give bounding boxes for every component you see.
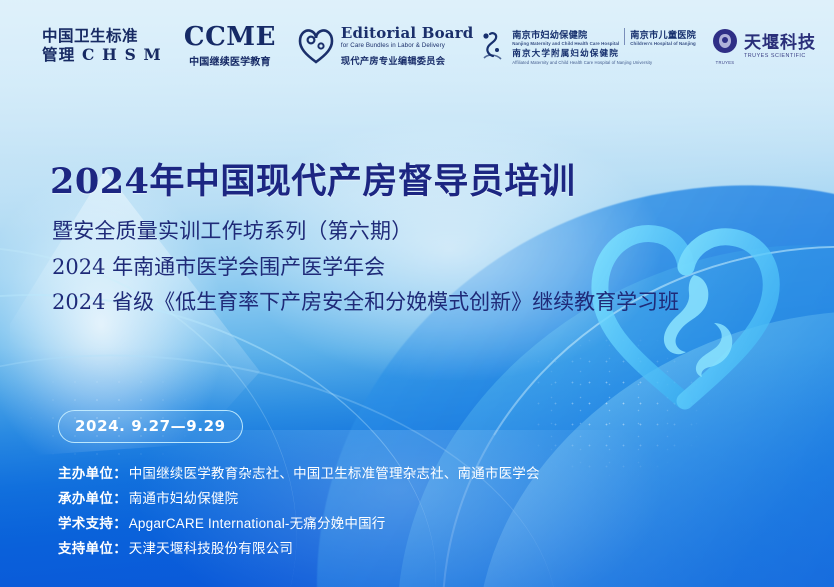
poster-content: 2024年中国现代产房督导员培训 暨安全质量实训工作坊系列（第六期） 2024 … [50,0,790,587]
poster-title-sub3: 2024 省级《低生育率下产房安全和分娩模式创新》继续教育学习班 [52,292,679,313]
credit-label: 学术支持 [58,512,113,532]
credit-row: 支持单位 ： 天津天堰科技股份有限公司 [58,537,540,557]
conference-poster: 中国卫生标准 管理 C H S M CCME 中国继续医学教育 Editoria… [0,0,834,587]
credit-row: 学术支持 ： ApgarCARE International-无痛分娩中国行 [58,512,540,532]
poster-title-sub1: 暨安全质量实训工作坊系列（第六期） [52,221,412,242]
credit-colon: ： [113,462,127,482]
credit-row: 主办单位 ： 中国继续医学教育杂志社、中国卫生标准管理杂志社、南通市医学会 [58,462,540,482]
credit-value: ApgarCARE International-无痛分娩中国行 [129,512,386,532]
credit-colon: ： [113,537,127,557]
credit-value: 天津天堰科技股份有限公司 [129,537,293,557]
poster-title-main: 2024年中国现代产房督导员培训 [50,164,575,199]
credits-block: 主办单位 ： 中国继续医学教育杂志社、中国卫生标准管理杂志社、南通市医学会 承办… [58,462,540,562]
credit-colon: ： [113,512,127,532]
event-date-badge: 2024. 9.27—9.29 [58,410,243,443]
credit-value: 中国继续医学教育杂志社、中国卫生标准管理杂志社、南通市医学会 [129,462,540,482]
credit-colon: ： [113,487,127,507]
credit-value: 南通市妇幼保健院 [129,487,239,507]
credit-label: 承办单位 [58,487,113,507]
poster-title-sub2: 2024 年南通市医学会围产医学年会 [52,257,385,278]
credit-label: 支持单位 [58,537,113,557]
credit-row: 承办单位 ： 南通市妇幼保健院 [58,487,540,507]
credit-label: 主办单位 [58,462,113,482]
